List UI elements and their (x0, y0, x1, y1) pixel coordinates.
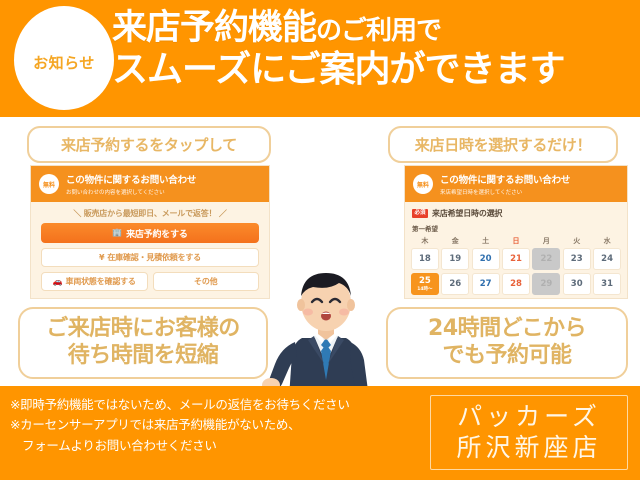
calendar-day-number: 26 (449, 279, 461, 289)
free-badge-label: 無料 (43, 180, 55, 189)
mockup-right-header-title: この物件に関するお問い合わせ (440, 172, 570, 186)
free-badge-icon: 無料 (39, 174, 59, 194)
disclaimer-text: ※即時予約機能ではないため、メールの返信をお待ちください ※カーセンサーアプリで… (10, 395, 410, 456)
calendar-day-number: 30 (571, 279, 583, 289)
calendar-day-time: 14時〜 (417, 286, 432, 292)
calendar-weekday-火: 火 (563, 236, 591, 246)
store-name-box: パッカーズ 所沢新座店 (430, 395, 628, 470)
inquiry-form-mockup: 無料 この物件に関するお問い合わせ お問い合わせの内容を選択してください ＼ 販… (30, 165, 270, 299)
calendar-day-30[interactable]: 30 (563, 273, 591, 295)
calendar-day-31[interactable]: 31 (593, 273, 621, 295)
benefit-message-left: ご来店時にお客様の 待ち時間を短縮 (18, 307, 268, 379)
banner-footer: ※即時予約機能ではないため、メールの返信をお待ちください ※カーセンサーアプリで… (0, 386, 640, 480)
calendar-day-number: 23 (571, 254, 583, 264)
calendar-grid: 木金土日月火水 181920212223242514時〜262728293031 (405, 233, 627, 295)
calendar-weekday-月: 月 (532, 236, 560, 246)
mockup-left-header: 無料 この物件に関するお問い合わせ お問い合わせの内容を選択してください (31, 166, 269, 202)
headline-line-1-main: 来店予約機能 (112, 8, 316, 48)
calendar-weekday-木: 木 (411, 236, 439, 246)
calendar-day-28[interactable]: 28 (502, 273, 530, 295)
calendar-body: 181920212223242514時〜262728293031 (411, 248, 621, 295)
reply-note: ＼ 販売店から最短即日、メールで返答！ ／ (31, 202, 269, 223)
calendar-weekday-header-row: 木金土日月火水 (411, 236, 621, 246)
free-badge-icon: 無料 (413, 174, 433, 194)
calendar-weekday-日: 日 (502, 236, 530, 246)
calendar-day-23[interactable]: 23 (563, 248, 591, 270)
calendar-day-number: 27 (480, 279, 492, 289)
calendar-day-24[interactable]: 24 (593, 248, 621, 270)
calendar-day-18[interactable]: 18 (411, 248, 439, 270)
calendar-weekday-水: 水 (593, 236, 621, 246)
callout-right: 来店日時を選択するだけ！ (388, 126, 618, 163)
benefit-message-right: 24時間どこから でも予約可能 (386, 307, 628, 379)
vehicle-condition-button[interactable]: 🚗 車両状態を確認する (41, 272, 148, 291)
vehicle-condition-button-label: 車両状態を確認する (66, 276, 136, 287)
advertisement-banner: お知らせ 来店予約機能のご利用で スムーズにご案内ができます 来店予約するをタッ… (0, 0, 640, 480)
store-icon: 🏢 (112, 229, 122, 237)
calendar-day-number: 29 (540, 279, 552, 289)
calendar-week-row: 2514時〜262728293031 (411, 273, 621, 295)
benefit-message-left-line1: ご来店時にお客様の (46, 316, 240, 343)
disclaimer-line-2: ※カーセンサーアプリでは来店予約機能がないため、 (10, 415, 410, 435)
benefit-message-right-line1: 24時間どこから (428, 316, 586, 343)
yen-icon: ¥ (99, 254, 104, 262)
calendar-day-number: 21 (510, 254, 522, 264)
calendar-mockup: 無料 この物件に関するお問い合わせ 来店希望日時を選択してください 必須 来店希… (404, 165, 628, 299)
stock-quote-button[interactable]: ¥ 在庫確認・見積依頼をする (41, 248, 259, 267)
calendar-section-title-row: 必須 来店希望日時の選択 (405, 202, 627, 219)
headline-line-2: スムーズにご案内ができます (112, 50, 632, 90)
calendar-weekday-土: 土 (472, 236, 500, 246)
car-icon: 🚗 (53, 278, 63, 286)
reserve-visit-button-label: 来店予約をする (126, 227, 188, 240)
calendar-day-number: 19 (449, 254, 461, 264)
disclaimer-line-3: フォームよりお問い合わせください (10, 436, 410, 456)
headline-group: 来店予約機能のご利用で スムーズにご案内ができます (112, 10, 632, 89)
calendar-day-20[interactable]: 20 (472, 248, 500, 270)
mockup-right-header: 無料 この物件に関するお問い合わせ 来店希望日時を選択してください (405, 166, 627, 202)
calendar-day-number: 25 (419, 276, 431, 286)
mockup-left-header-sub: お問い合わせの内容を選択してください (66, 188, 196, 196)
calendar-day-number: 22 (540, 254, 552, 264)
calendar-day-number: 20 (480, 254, 492, 264)
other-button-label: その他 (194, 276, 217, 287)
calendar-week-row: 18192021222324 (411, 248, 621, 270)
calendar-section-title: 来店希望日時の選択 (432, 208, 502, 219)
callout-left: 来店予約するをタップして (27, 126, 271, 163)
free-badge-label: 無料 (417, 180, 429, 189)
disclaimer-line-1: ※即時予約機能ではないため、メールの返信をお待ちください (10, 395, 410, 415)
mockup-left-header-title: この物件に関するお問い合わせ (66, 172, 196, 186)
headline-line-1-tail: のご利用で (316, 16, 441, 46)
mockup-right-header-text: この物件に関するお問い合わせ 来店希望日時を選択してください (440, 172, 570, 196)
calendar-day-29: 29 (532, 273, 560, 295)
calendar-day-19[interactable]: 19 (441, 248, 469, 270)
calendar-day-number: 18 (419, 254, 431, 264)
store-name-line-2: 所沢新座店 (456, 433, 601, 464)
announcement-badge-label: お知らせ (33, 52, 95, 73)
other-button[interactable]: その他 (153, 272, 260, 291)
calendar-day-number: 24 (601, 254, 613, 264)
required-badge: 必須 (412, 209, 428, 218)
calendar-day-21[interactable]: 21 (502, 248, 530, 270)
secondary-button-row: 🚗 車両状態を確認する その他 (41, 272, 259, 291)
calendar-weekday-金: 金 (441, 236, 469, 246)
mockup-right-header-sub: 来店希望日時を選択してください (440, 188, 570, 196)
store-name-line-1: パッカーズ (457, 402, 601, 433)
headline-line-1: 来店予約機能のご利用で (112, 10, 632, 48)
stock-quote-button-label: 在庫確認・見積依頼をする (107, 252, 201, 263)
banner-header: お知らせ 来店予約機能のご利用で スムーズにご案内ができます (0, 0, 640, 117)
calendar-day-25[interactable]: 2514時〜 (411, 273, 439, 295)
reserve-visit-button[interactable]: 🏢 来店予約をする (41, 223, 259, 243)
benefit-message-left-line2: 待ち時間を短縮 (68, 343, 219, 370)
calendar-day-26[interactable]: 26 (441, 273, 469, 295)
mockup-left-header-text: この物件に関するお問い合わせ お問い合わせの内容を選択してください (66, 172, 196, 196)
calendar-day-number: 31 (601, 279, 613, 289)
benefit-message-right-line2: でも予約可能 (442, 343, 571, 370)
calendar-day-number: 28 (510, 279, 522, 289)
content-panel: 来店予約するをタップして 来店日時を選択するだけ！ 無料 この物件に関するお問い… (0, 117, 640, 386)
calendar-day-22: 22 (532, 248, 560, 270)
calendar-preference-label: 第一希望 (405, 219, 627, 233)
calendar-day-27[interactable]: 27 (472, 273, 500, 295)
announcement-badge: お知らせ (14, 6, 114, 110)
